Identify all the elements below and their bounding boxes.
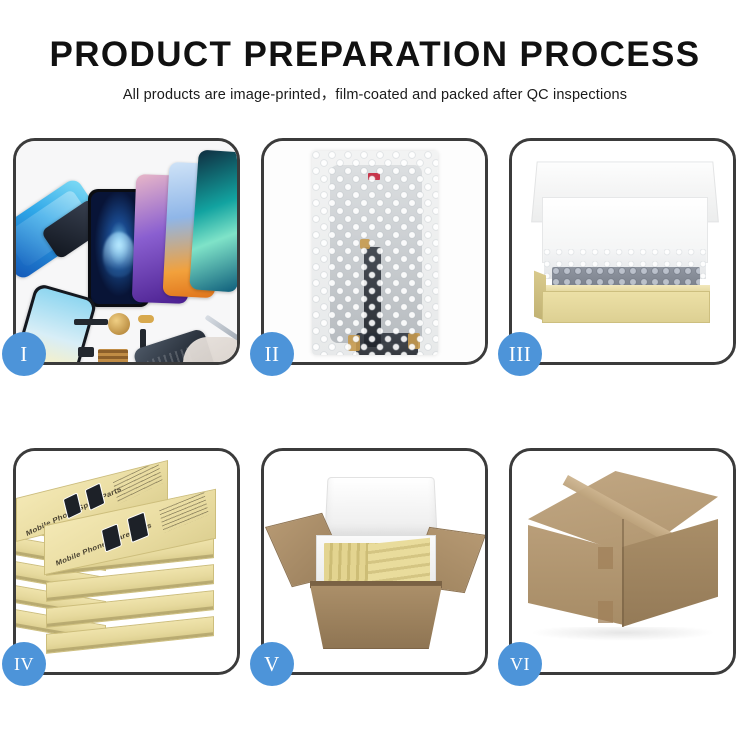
box-spec-lines-back	[113, 461, 163, 505]
step-4-image: Mobile Phone Spare Parts Mobile Phone Sp…	[16, 451, 237, 672]
header: PRODUCT PREPARATION PROCESS All products…	[0, 34, 750, 104]
process-steps-grid: I II	[13, 138, 737, 675]
connector-grid-part	[98, 349, 128, 362]
step-badge-2: II	[250, 332, 294, 376]
bubble-texture-overlay	[312, 151, 438, 355]
step-badge-6: VI	[498, 642, 542, 686]
step-1-image	[16, 141, 237, 362]
carton-tape-tab-lower	[598, 601, 613, 623]
step-2-image	[264, 141, 485, 362]
process-step-panel-1[interactable]: I	[13, 138, 240, 365]
step-5-image	[264, 451, 485, 672]
step-badge-1: I	[2, 332, 46, 376]
box-phone-image-front-2	[127, 511, 150, 543]
process-step-panel-2[interactable]: II	[261, 138, 488, 365]
page-title: PRODUCT PREPARATION PROCESS	[0, 34, 750, 76]
step-badge-3: III	[498, 332, 542, 376]
carton-ground-shadow	[530, 627, 716, 641]
product-preparation-infographic: PRODUCT PREPARATION PROCESS All products…	[0, 0, 750, 750]
carton-body	[310, 585, 442, 649]
small-flex-part-a	[78, 347, 94, 357]
step-badge-5: V	[250, 642, 294, 686]
page-subtitle: All products are image-printed，film-coat…	[0, 83, 750, 104]
carton-tape-tab-upper	[598, 547, 613, 569]
step-6-image	[512, 451, 733, 672]
foam-box-lid	[324, 477, 437, 537]
step-3-image	[512, 141, 733, 362]
process-step-panel-4[interactable]: Mobile Phone Spare Parts Mobile Phone Sp…	[13, 448, 240, 675]
carton-corner-edge	[622, 519, 624, 627]
box-spec-lines-front	[159, 492, 209, 533]
process-step-panel-5[interactable]: V	[261, 448, 488, 675]
process-step-panel-6[interactable]: VI	[509, 448, 736, 675]
box-phone-image-front-1	[101, 523, 122, 552]
gold-box-front-panel	[542, 291, 710, 323]
process-step-panel-3[interactable]: III	[509, 138, 736, 365]
bubble-wrap-bag	[312, 151, 438, 355]
step-badge-4: IV	[2, 642, 46, 686]
earpiece-mesh-part	[74, 319, 108, 325]
gold-button-part	[138, 315, 154, 323]
gold-vibration-motor-part	[108, 313, 130, 335]
